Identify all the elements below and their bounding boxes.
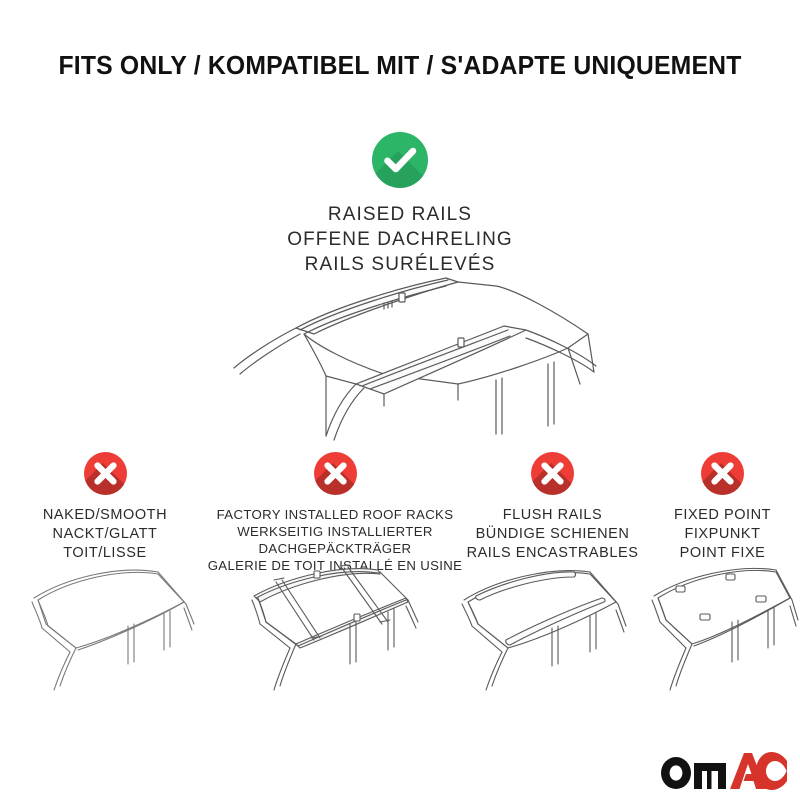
logo-letter-o (661, 757, 691, 789)
x-circle-icon (314, 452, 357, 495)
incompatible-item-flush-rails: FLUSH RAILS BÜNDIGE SCHIENEN RAILS ENCAS… (460, 452, 645, 563)
incompatible-item-naked-smooth: NAKED/SMOOTH NACKT/GLATT TOIT/LISSE (0, 452, 210, 563)
factory-roof-rack-illustration (218, 552, 432, 692)
compatible-label-en: RAISED RAILS (287, 202, 513, 227)
logo-letter-m (694, 763, 726, 789)
page-title: FITS ONLY / KOMPATIBEL MIT / S'ADAPTE UN… (12, 52, 788, 81)
x-circle-icon (701, 452, 744, 495)
label-de: BÜNDIGE SCHIENEN (467, 525, 639, 544)
logo-letter-c (756, 752, 787, 790)
x-circle-icon (84, 452, 127, 495)
x-circle-icon (531, 452, 574, 495)
label-de: NACKT/GLATT (43, 525, 167, 544)
compatible-label-de: OFFENE DACHRELING (287, 227, 513, 252)
label-en: FACTORY INSTALLED ROOF RACKS (208, 506, 463, 523)
label-en: NAKED/SMOOTH (43, 506, 167, 525)
label-de: FIXPUNKT (674, 525, 771, 544)
label-de-1: WERKSEITIG INSTALLIERTER (208, 523, 463, 540)
naked-smooth-illustration (8, 552, 204, 692)
flush-rails-illustration (440, 552, 632, 692)
compatible-labels: RAISED RAILS OFFENE DACHRELING RAILS SUR… (287, 202, 513, 277)
compatible-section: RAISED RAILS OFFENE DACHRELING RAILS SUR… (0, 132, 800, 277)
compatible-label-fr: RAILS SURÉLEVÉS (287, 252, 513, 277)
fixed-point-illustration (632, 552, 800, 692)
incompatible-illustrations (0, 552, 800, 692)
raised-rails-illustration (196, 276, 616, 466)
label-en: FLUSH RAILS (467, 506, 639, 525)
check-circle-icon (372, 132, 428, 188)
omac-logo (660, 752, 788, 790)
incompatible-item-fixed-point: FIXED POINT FIXPUNKT POINT FIXE (645, 452, 800, 563)
label-en: FIXED POINT (674, 506, 771, 525)
